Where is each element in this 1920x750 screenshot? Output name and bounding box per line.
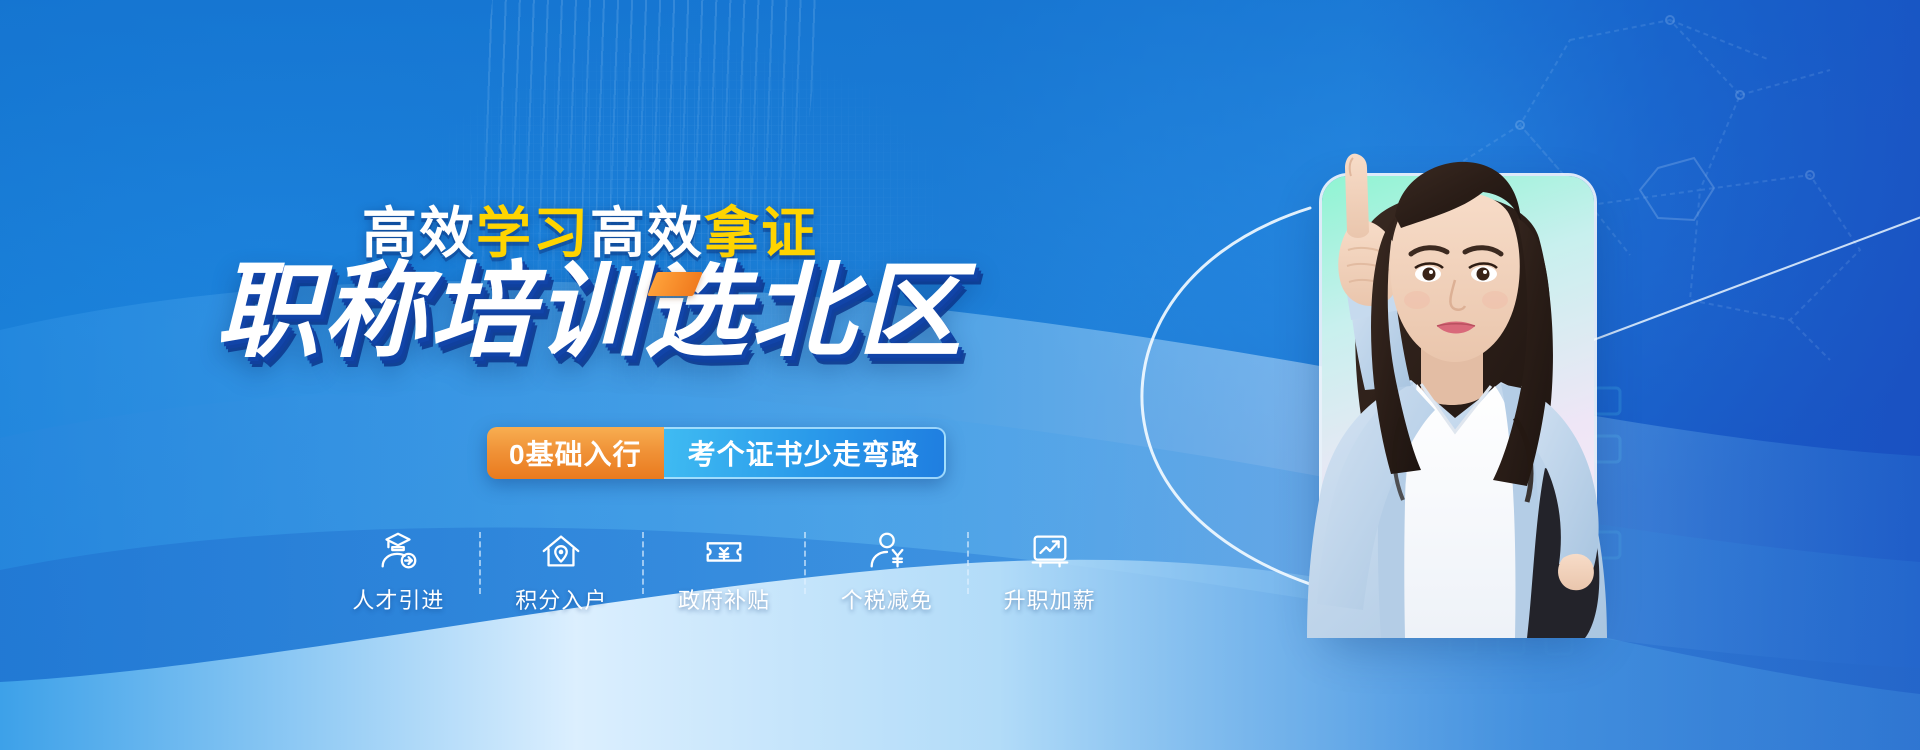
house-pin-icon	[538, 528, 584, 574]
promotional-banner: 高效学习高效拿证 职称培训选北区 0基础入行 考个证书少走弯路 人才引进	[0, 0, 1920, 750]
graduate-person-icon	[375, 528, 421, 574]
feature-label: 人才引进	[352, 583, 444, 615]
feature-list: 人才引进 积分入户 政府补贴	[318, 528, 1130, 636]
badge-left-label: 0基础入行	[487, 427, 664, 479]
feature-label: 积分入户	[515, 583, 607, 615]
feature-label: 个税减免	[841, 583, 933, 615]
feature-item-points-residency[interactable]: 积分入户	[481, 528, 642, 615]
badge-right-label: 考个证书少走弯路	[664, 427, 946, 479]
headline-main-row: 职称培训选北区	[0, 258, 1180, 367]
feature-item-tax-reduction[interactable]: 个税减免	[806, 528, 967, 615]
feature-label: 升职加薪	[1004, 583, 1096, 615]
feature-item-talent-introduction[interactable]: 人才引进	[318, 528, 479, 615]
ticket-yuan-icon	[701, 528, 747, 574]
feature-item-promotion-raise[interactable]: 升职加薪	[969, 528, 1130, 615]
person-yuan-icon	[864, 528, 910, 574]
chart-board-icon	[1027, 528, 1073, 574]
tagline-badge[interactable]: 0基础入行 考个证书少走弯路	[487, 427, 946, 479]
orange-accent-mark	[647, 272, 703, 296]
feature-item-government-subsidy[interactable]: 政府补贴	[644, 528, 805, 615]
businesswoman-photo	[1215, 118, 1695, 638]
headline-main-title: 职称培训选北区	[215, 258, 964, 367]
feature-label: 政府补贴	[678, 583, 770, 615]
